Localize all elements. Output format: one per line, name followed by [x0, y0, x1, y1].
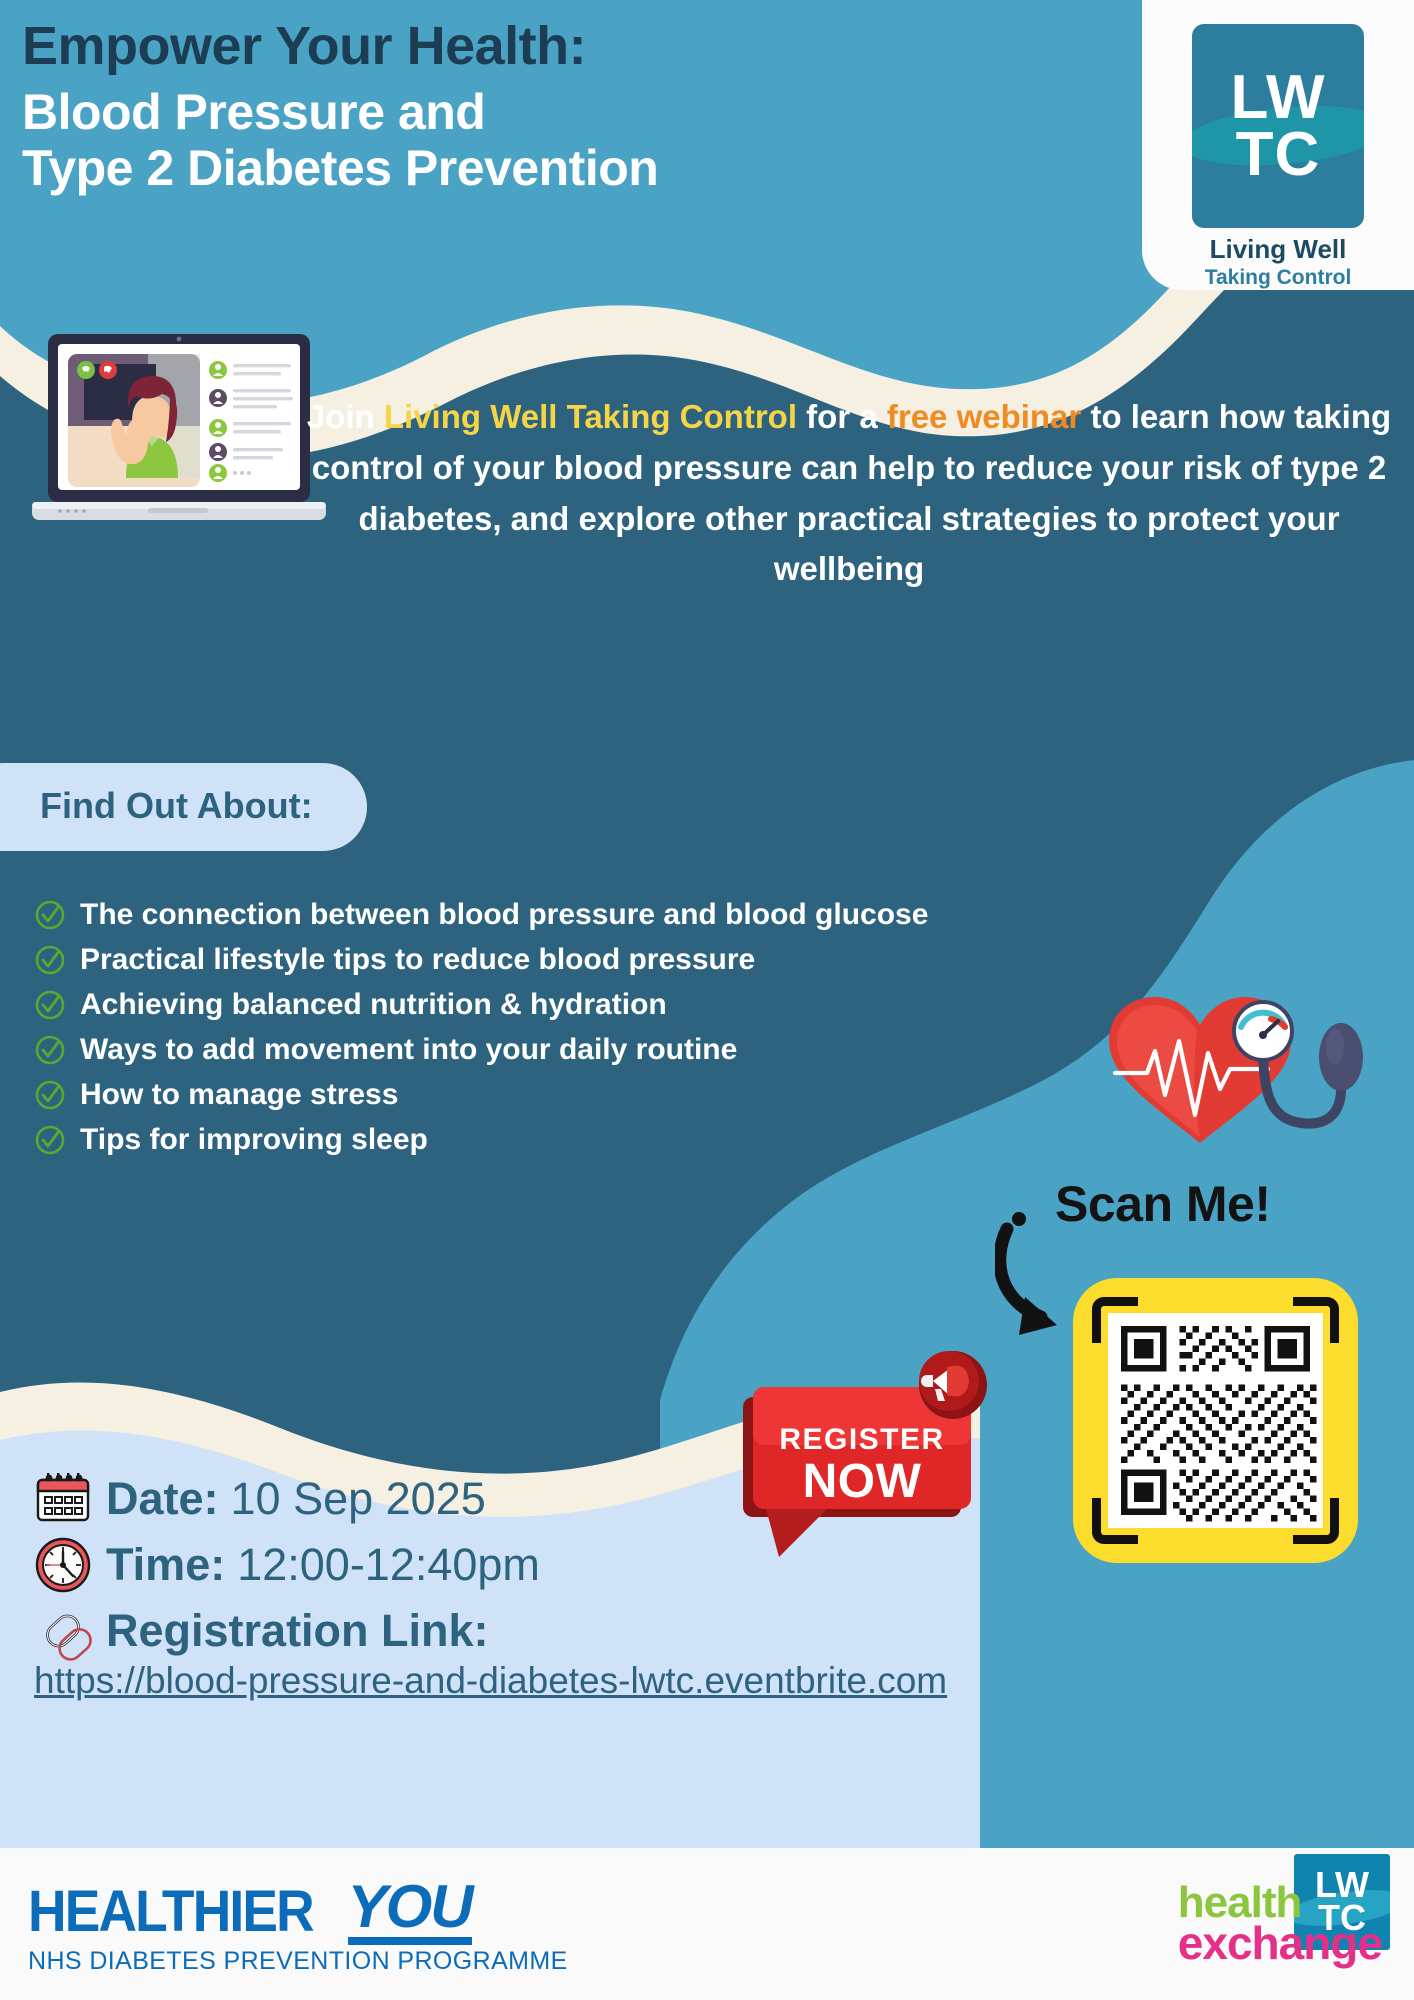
list-item-label: The connection between blood pressure an…	[80, 898, 928, 931]
poster-canvas: Empower Your Health: Blood Pressure and …	[0, 0, 1414, 2000]
check-circle-icon	[34, 1079, 66, 1111]
healthier-you-logo: HEALTHIER YOU NHS DIABETES PREVENTION PR…	[28, 1872, 568, 1976]
title-line-2: Blood Pressure and	[22, 84, 1082, 140]
lwtc-logo-card: LW TC Living Well Taking Control	[1142, 0, 1414, 290]
qr-code-matrix	[1108, 1313, 1323, 1528]
health-exchange-wordmark: health exchange	[1178, 1884, 1382, 1965]
calendar-icon	[32, 1468, 94, 1530]
heart-blood-pressure-icon	[1095, 985, 1375, 1145]
health-text: health	[1178, 1884, 1302, 1921]
title-line-3: Type 2 Diabetes Prevention	[22, 140, 1082, 196]
date-value: 10 Sep 2025	[231, 1473, 486, 1525]
laptop-webinar-illustration	[28, 330, 328, 540]
register-badge-line-1: REGISTER	[779, 1423, 944, 1456]
healthier-text: HEALTHIER	[28, 1878, 313, 1945]
you-wordmark: YOU	[348, 1872, 472, 1945]
list-item: Ways to add movement into your daily rou…	[34, 1033, 928, 1066]
webinar-description: Join Living Well Taking Control for a fr…	[300, 392, 1398, 595]
list-item: Achieving balanced nutrition & hydration	[34, 988, 928, 1021]
check-circle-icon	[34, 944, 66, 976]
list-item-label: Ways to add movement into your daily rou…	[80, 1033, 737, 1066]
lwtc-logo-mark: LW TC	[1192, 24, 1364, 228]
clock-icon	[32, 1534, 94, 1596]
qr-bracket-top-right	[1293, 1297, 1339, 1343]
registration-link-label: Registration Link:	[106, 1605, 489, 1657]
lwtc-mark-line-1: LW	[1231, 69, 1326, 126]
topics-list: The connection between blood pressure an…	[34, 898, 928, 1168]
event-details: Date: 10 Sep 2025 Time: 12:00-12:40pm	[32, 1468, 540, 1666]
nhs-programme-subtitle: NHS DIABETES PREVENTION PROGRAMME	[28, 1947, 568, 1976]
check-circle-icon	[34, 899, 66, 931]
qr-bracket-bottom-left	[1092, 1498, 1138, 1544]
you-text: YOU	[348, 1872, 472, 1941]
curved-arrow-icon	[995, 1205, 1125, 1350]
list-item: How to manage stress	[34, 1078, 928, 1111]
poster-header: Empower Your Health: Blood Pressure and …	[22, 18, 1082, 196]
qr-code-frame	[1108, 1313, 1323, 1528]
health-exchange-logo: health exchange LW TC	[1178, 1884, 1386, 1965]
find-out-about-heading: Find Out About:	[40, 785, 313, 826]
desc-seg-1: Join	[307, 398, 384, 435]
healthier-you-wordmark: HEALTHIER YOU	[28, 1872, 568, 1945]
check-circle-icon	[34, 1034, 66, 1066]
desc-free-webinar-highlight: free webinar	[887, 398, 1081, 435]
lwtc-mark-line-2: TC	[1236, 126, 1321, 183]
list-item: Practical lifestyle tips to reduce blood…	[34, 943, 928, 976]
list-item: Tips for improving sleep	[34, 1123, 928, 1156]
list-item-label: Tips for improving sleep	[80, 1123, 428, 1156]
date-label: Date:	[106, 1473, 219, 1525]
qr-bracket-bottom-right	[1293, 1498, 1339, 1544]
list-item: The connection between blood pressure an…	[34, 898, 928, 931]
footer-bar: HEALTHIER YOU NHS DIABETES PREVENTION PR…	[0, 1848, 1414, 2000]
lwtc-logo-tagline: Taking Control	[1205, 266, 1352, 290]
registration-url-link[interactable]: https://blood-pressure-and-diabetes-lwtc…	[34, 1660, 947, 1702]
desc-brand-highlight: Living Well Taking Control	[384, 398, 797, 435]
check-circle-icon	[34, 989, 66, 1021]
find-out-about-pill: Find Out About:	[0, 763, 367, 851]
detail-row-registration-link: Registration Link:	[32, 1600, 540, 1662]
list-item-label: Achieving balanced nutrition & hydration	[80, 988, 667, 1021]
exchange-text: exchange	[1178, 1923, 1382, 1964]
register-badge-line-2: NOW	[803, 1455, 922, 1508]
check-circle-icon	[34, 1124, 66, 1156]
detail-row-time: Time: 12:00-12:40pm	[32, 1534, 540, 1596]
title-line-1: Empower Your Health:	[22, 18, 1082, 74]
link-chain-icon	[32, 1600, 94, 1662]
qr-code-image	[1108, 1313, 1323, 1528]
lwtc-logo-name: Living Well	[1210, 234, 1347, 265]
register-now-badge[interactable]: REGISTER NOW	[735, 1345, 1000, 1560]
time-value: 12:00-12:40pm	[237, 1539, 540, 1591]
desc-seg-3: for a	[797, 398, 887, 435]
list-item-label: Practical lifestyle tips to reduce blood…	[80, 943, 755, 976]
list-item-label: How to manage stress	[80, 1078, 398, 1111]
time-label: Time:	[106, 1539, 225, 1591]
detail-row-date: Date: 10 Sep 2025	[32, 1468, 540, 1530]
